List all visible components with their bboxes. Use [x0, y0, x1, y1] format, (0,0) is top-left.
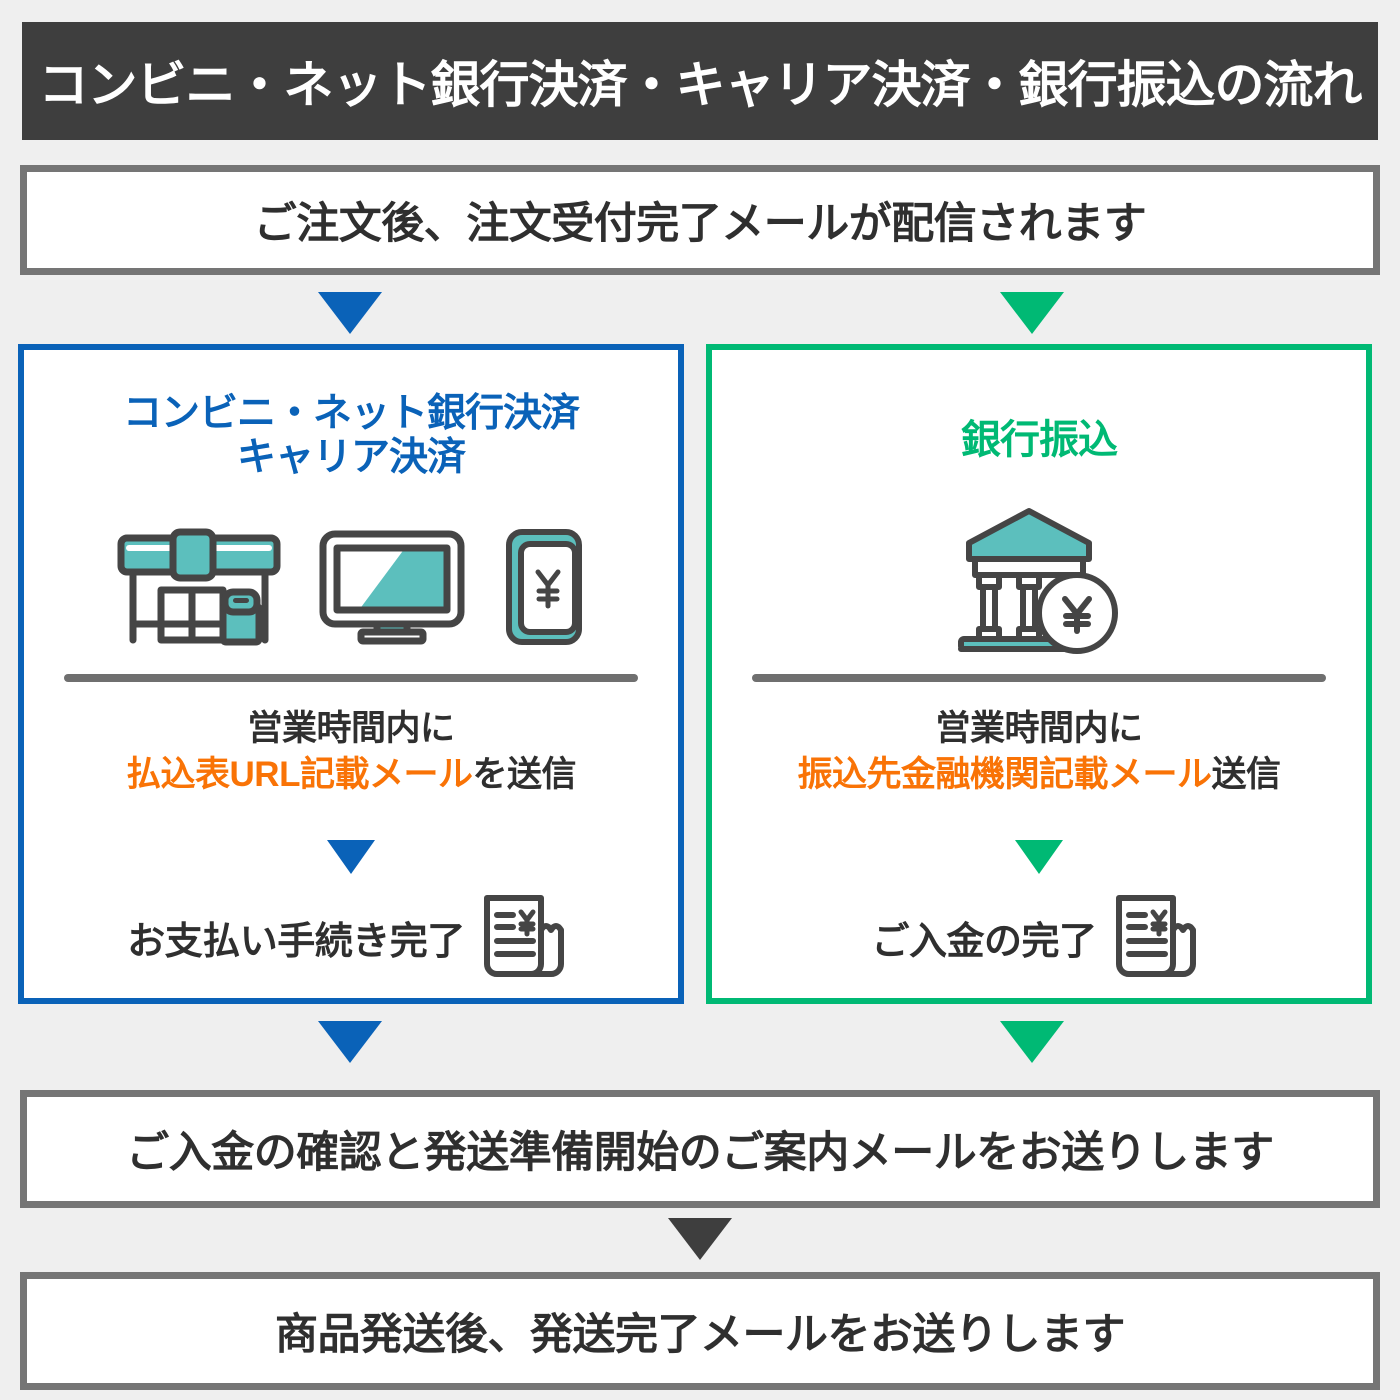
panel-konbini-mail-note: 営業時間内に 払込表URL記載メールを送信 — [24, 706, 678, 798]
down-arrow-furikomi-to-confirm-icon — [1000, 1021, 1064, 1063]
panel-furikomi-note-highlight: 振込先金融機関記載メール — [797, 755, 1211, 794]
panel-konbini-title-line1: コンビニ・ネット銀行決済 — [24, 392, 678, 436]
panel-konbini-title-line2: キャリア決済 — [24, 436, 678, 480]
panel-furikomi-note-suffix: 送信 — [1212, 755, 1281, 794]
panel-furikomi-mail-note: 営業時間内に 振込先金融機関記載メール送信 — [712, 706, 1366, 798]
desktop-monitor-icon — [317, 528, 467, 646]
payment-flow-diagram: コンビニ・ネット銀行決済・キャリア決済・銀行振込の流れ ご注文後、注文受付完了メ… — [0, 0, 1400, 1400]
step-order-received: ご注文後、注文受付完了メールが配信されます — [20, 165, 1380, 275]
panel-konbini-divider — [64, 674, 638, 682]
panel-furikomi-note-line1: 営業時間内に — [712, 706, 1366, 752]
panel-konbini-note-highlight: 払込表URL記載メール — [126, 755, 472, 794]
panel-furikomi-icon-row — [712, 500, 1366, 660]
step-payment-confirmed-label: ご入金の確認と発送準備開始のご案内メールをお送りします — [126, 1118, 1274, 1180]
panel-konbini-done-label: お支払い手続き完了 — [127, 910, 465, 965]
down-arrow-konbini-inner-icon — [327, 840, 375, 874]
panel-konbini-icon-row — [24, 522, 678, 652]
panel-furikomi-divider — [752, 674, 1326, 682]
convenience-store-icon — [115, 528, 283, 646]
down-arrow-to-konbini-icon — [318, 292, 382, 334]
panel-konbini-note-suffix: を送信 — [472, 755, 576, 794]
down-arrow-konbini-to-confirm-icon — [318, 1021, 382, 1063]
bank-yen-icon — [953, 505, 1125, 655]
page-title-bar: コンビニ・ネット銀行決済・キャリア決済・銀行振込の流れ — [22, 22, 1378, 140]
receipt-yen-icon — [475, 890, 575, 984]
panel-furikomi-title: 銀行振込 — [712, 418, 1366, 463]
panel-furikomi-title-line1: 銀行振込 — [712, 418, 1366, 463]
panel-furikomi-inner-arrow-wrap — [712, 840, 1366, 874]
page-title: コンビニ・ネット銀行決済・キャリア決済・銀行振込の流れ — [39, 45, 1362, 117]
receipt-yen-icon — [1107, 890, 1207, 984]
down-arrow-to-shipped-icon — [668, 1218, 732, 1260]
down-arrow-to-furikomi-icon — [1000, 292, 1064, 334]
step-order-received-label: ご注文後、注文受付完了メールが配信されます — [254, 189, 1147, 251]
panel-konbini-title: コンビニ・ネット銀行決済 キャリア決済 — [24, 392, 678, 479]
panel-furikomi-done-row: ご入金の完了 — [712, 890, 1366, 984]
panel-konbini-note-line1: 営業時間内に — [24, 706, 678, 752]
step-shipped: 商品発送後、発送完了メールをお送りします — [20, 1272, 1380, 1390]
panel-konbini-payment: コンビニ・ネット銀行決済 キャリア決済 — [18, 344, 684, 1004]
panel-bank-transfer: 銀行振込 — [706, 344, 1372, 1004]
panel-konbini-done-row: お支払い手続き完了 — [24, 890, 678, 984]
step-shipped-label: 商品発送後、発送完了メールをお送りします — [275, 1300, 1125, 1362]
panel-furikomi-done-label: ご入金の完了 — [871, 910, 1096, 965]
down-arrow-furikomi-inner-icon — [1015, 840, 1063, 874]
smartphone-yen-icon — [501, 526, 587, 648]
step-payment-confirmed: ご入金の確認と発送準備開始のご案内メールをお送りします — [20, 1090, 1380, 1208]
panel-konbini-inner-arrow-wrap — [24, 840, 678, 874]
